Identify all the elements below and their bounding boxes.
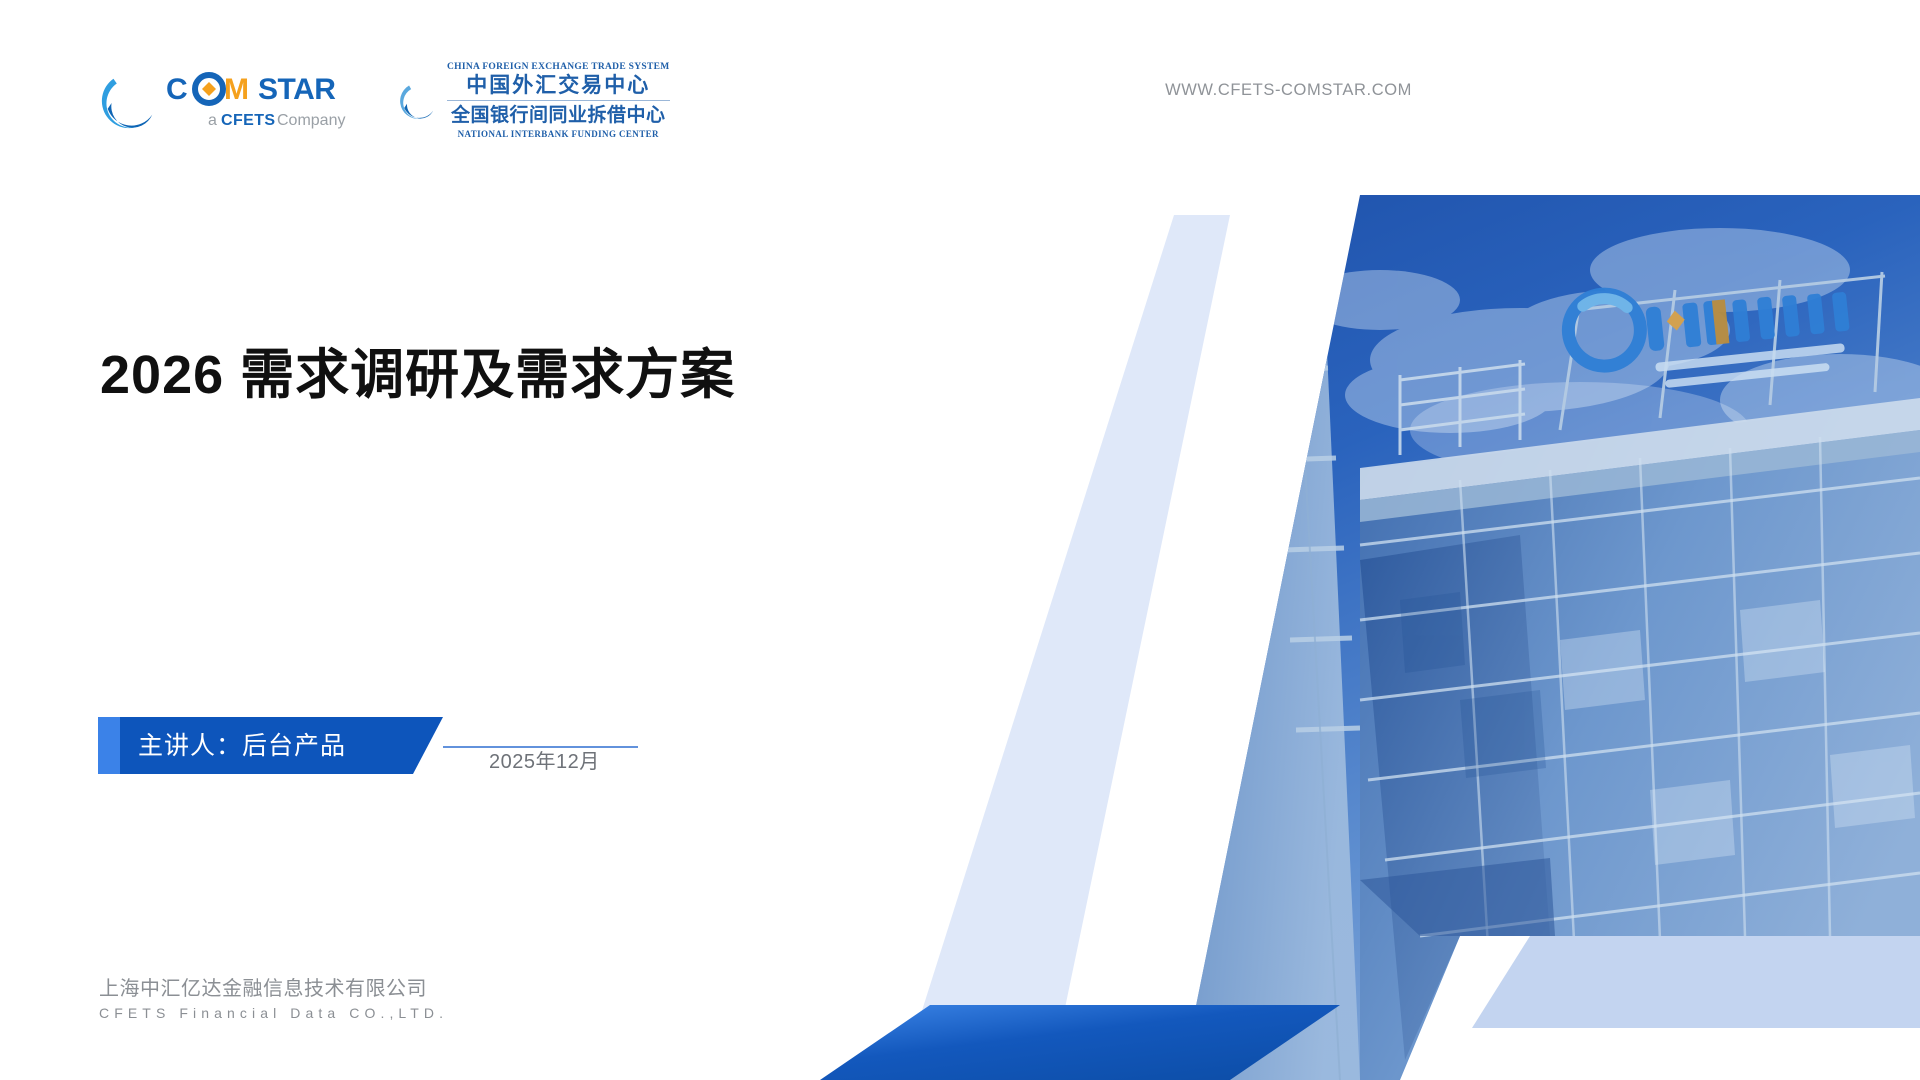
comstar-wordmark-group: C M STAR a CFETS Company [166,72,366,129]
cfets-english-top: CHINA FOREIGN EXCHANGE TRADE SYSTEM [447,62,670,72]
svg-text:M: M [224,73,249,106]
page-title: 2026 需求调研及需求方案 [100,330,735,409]
cfets-nifc-logo: CHINA FOREIGN EXCHANGE TRADE SYSTEM 中国外汇… [396,62,670,139]
cfets-chinese-top: 中国外汇交易中心 [466,72,650,98]
comstar-tagline: a CFETS Company [166,109,366,129]
cfets-chinese-bottom: 全国银行间同业拆借中心 [451,104,666,127]
svg-text:STAR: STAR [258,73,336,106]
cfets-divider [447,100,670,101]
footer-company-cn: 上海中汇亿达金融信息技术有限公司 [99,972,448,1001]
svg-text:CFETS: CFETS [221,112,275,129]
site-url[interactable]: WWW.CFETS-COMSTAR.COM [1165,81,1412,100]
slide-root: C M STAR a CFETS Company [0,0,1920,1080]
comstar-wordmark: C M STAR [166,72,366,106]
cfets-swirl-icon [396,79,440,123]
cfets-english-bottom: NATIONAL INTERBANK FUNDING CENTER [458,129,659,139]
banner-accent-bar [98,717,120,774]
svg-text:a: a [208,112,217,129]
bottom-pale-band [1472,936,1920,1028]
presentation-date: 2025年12月 [489,745,600,774]
cfets-text-block: CHINA FOREIGN EXCHANGE TRADE SYSTEM 中国外汇… [447,62,670,139]
logo-row: C M STAR a CFETS Company [98,62,670,139]
footer-company-en: CFETS Financial Data CO.,LTD. [99,1005,448,1021]
svg-text:C: C [166,73,187,106]
comstar-logo: C M STAR a CFETS Company [98,70,366,132]
svg-text:Company: Company [277,112,345,129]
diagonal-accent-stripe [900,215,1230,1080]
comstar-swirl-icon [98,70,160,132]
slide-header: C M STAR a CFETS Company [0,0,1920,190]
speaker-label: 主讲人：后台产品 [138,714,346,774]
footer: 上海中汇亿达金融信息技术有限公司 CFETS Financial Data CO… [99,972,448,1021]
